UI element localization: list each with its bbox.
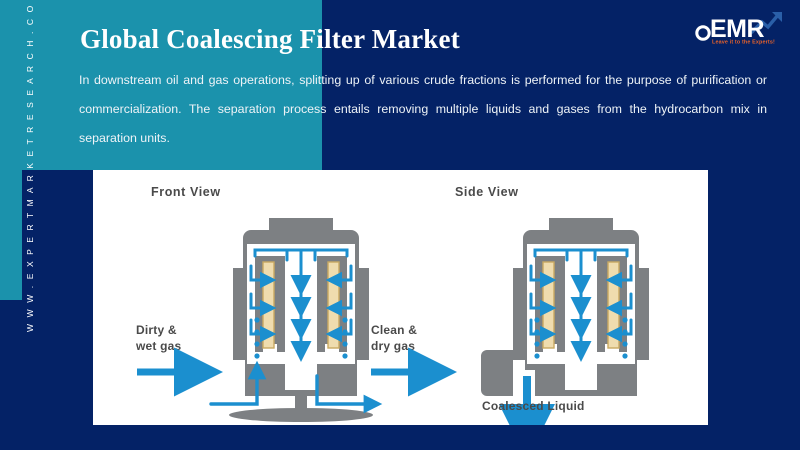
- website-url-vertical: W W W . E X P E R T M A R K E T R E S E …: [19, 0, 41, 341]
- page-title: Global Coalescing Filter Market: [80, 24, 460, 55]
- inlet-label-line1: Dirty &: [136, 323, 177, 337]
- side-view-label: Side View: [455, 185, 519, 199]
- logo-tagline: Leave it to the Experts!: [712, 40, 775, 46]
- drain-label: Coalesced Liquid: [482, 399, 585, 413]
- inlet-label-line2: wet gas: [135, 339, 182, 353]
- outlet-label-line2: dry gas: [371, 339, 415, 353]
- front-view-group: Front View Dirty & wet gas Cl: [135, 185, 417, 422]
- slide-canvas: W W W . E X P E R T M A R K E T R E S E …: [0, 0, 800, 450]
- logo-ring-icon: [697, 27, 709, 39]
- front-view-label: Front View: [151, 185, 221, 199]
- emr-logo[interactable]: EMR Leave it to the Experts!: [690, 6, 786, 46]
- diagram-panel: Front View Dirty & wet gas Cl: [93, 170, 708, 425]
- side-view-group: Side View Coalesced Liquid: [455, 185, 649, 413]
- outlet-label-line1: Clean &: [371, 323, 417, 337]
- page-description: In downstream oil and gas operations, sp…: [79, 66, 767, 153]
